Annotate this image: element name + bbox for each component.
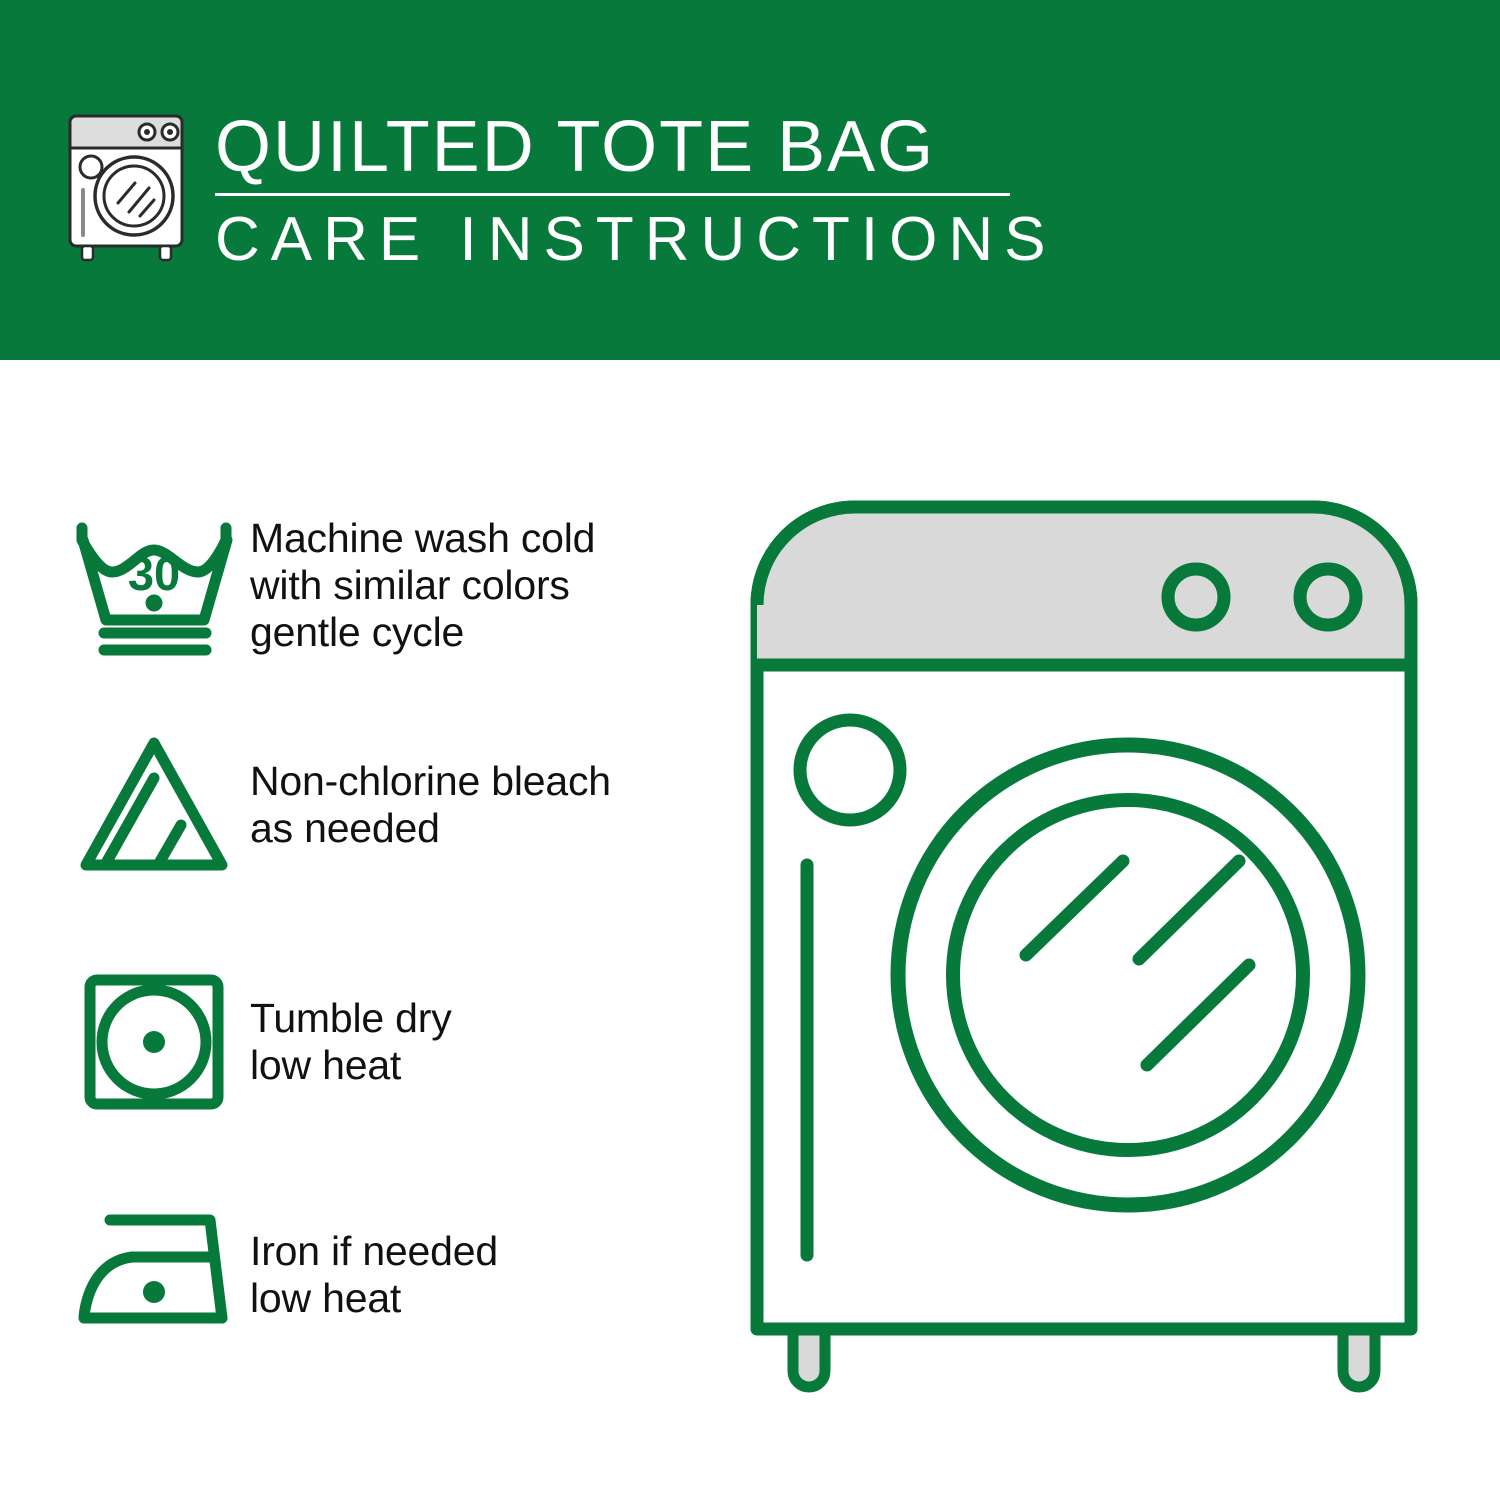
door-inner-ring (953, 800, 1303, 1150)
washing-machine-icon (62, 108, 197, 263)
care-row-tumble-dry: Tumble dry low heat (70, 967, 730, 1117)
wash-temperature-label: 30 (128, 547, 180, 600)
care-instructions-page: QUILTED TOTE BAG CARE INSTRUCTIONS (0, 0, 1500, 1500)
title-divider (215, 193, 1010, 196)
page-subtitle: CARE INSTRUCTIONS (215, 202, 1025, 278)
detergent-indicator-circle (800, 720, 900, 820)
care-text-bleach: Non-chlorine bleach as needed (250, 758, 730, 852)
header-band: QUILTED TOTE BAG CARE INSTRUCTIONS (0, 0, 1500, 360)
header-text-block: QUILTED TOTE BAG CARE INSTRUCTIONS (215, 105, 1025, 278)
page-title: QUILTED TOTE BAG (215, 105, 1025, 189)
care-text-iron: Iron if needed low heat (250, 1228, 730, 1322)
iron-low-heat-icon (70, 1200, 250, 1350)
care-row-iron: Iron if needed low heat (70, 1200, 730, 1350)
care-row-machine-wash: 30 Machine wash cold with similar colors… (70, 510, 730, 660)
care-text-tumble-dry: Tumble dry low heat (250, 995, 730, 1089)
care-instruction-list: 30 Machine wash cold with similar colors… (0, 360, 740, 1500)
care-row-bleach: Non-chlorine bleach as needed (70, 730, 730, 880)
dial-left (1168, 569, 1224, 625)
wash-tub-30-gentle-icon: 30 (70, 510, 250, 660)
triangle-non-chlorine-bleach-icon (70, 730, 250, 880)
front-load-washing-machine-illustration (745, 495, 1455, 1415)
tumble-dry-low-heat-icon (70, 967, 250, 1117)
dial-right (1300, 569, 1356, 625)
care-text-machine-wash: Machine wash cold with similar colors ge… (250, 515, 730, 656)
